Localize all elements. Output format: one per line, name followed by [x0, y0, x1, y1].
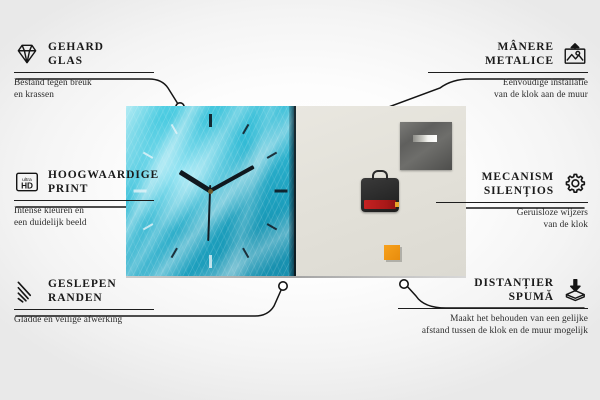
infographic-canvas: GEHARD GLAS Bestand tegen breuk en krass… [0, 0, 600, 400]
clock-hub [208, 189, 213, 194]
callout-rule [14, 309, 154, 310]
callout-description: van de klok aan de muur [428, 89, 588, 101]
foam-spacer [384, 245, 400, 260]
callout-description: Intense kleuren en [14, 205, 154, 217]
mechanism-hanger-loop [372, 170, 388, 180]
panel-seam [294, 106, 296, 276]
callout-title: MECANISM [482, 170, 554, 184]
callout-description: van de klok [436, 219, 588, 231]
diagonal-edges-icon [14, 278, 40, 304]
metal-hanger-plate [400, 122, 452, 170]
callout-description: en krassen [14, 89, 154, 101]
ultra-hd-icon: ultra HD [14, 169, 40, 195]
callout-mecanism-silentios: MECANISM SILENȚIOS Geruisloze wijzers va… [436, 170, 588, 231]
callout-title: METALICE [485, 54, 554, 68]
clock-tick [242, 124, 249, 135]
callout-title: GLAS [48, 54, 104, 68]
callout-description: Eenvoudige installatie [428, 77, 588, 89]
callout-rule [428, 72, 588, 73]
callout-title: PRINT [48, 182, 159, 196]
clock-tick [275, 190, 288, 193]
hour-hand [178, 170, 211, 193]
callout-title: DISTANȚIER [474, 276, 554, 290]
spacer-press-icon [562, 277, 588, 303]
callout-rule [398, 308, 588, 309]
product-photo [126, 106, 466, 276]
callout-title: MÂNERE [485, 40, 554, 54]
clock-tick [209, 114, 212, 127]
callout-description: Maakt het behouden van een gelijke [398, 313, 588, 325]
clock-tick [267, 152, 278, 159]
gear-icon [562, 171, 588, 197]
callout-description: Gladde en veilige afwerking [14, 314, 154, 326]
clock-tick [171, 124, 178, 135]
minute-hand [209, 165, 255, 193]
callout-rule [14, 72, 154, 73]
callout-title: GEHARD [48, 40, 104, 54]
callout-title: SPUMĂ [474, 290, 554, 304]
battery [364, 200, 396, 209]
callout-title: GESLEPEN [48, 277, 117, 291]
callout-description: Bestand tegen breuk [14, 77, 154, 89]
callout-geslepen-randen: GESLEPEN RANDEN Gladde en veilige afwerk… [14, 277, 154, 326]
svg-text:HD: HD [21, 182, 33, 191]
callout-distantier-spuma: DISTANȚIER SPUMĂ Maakt het behouden van … [398, 276, 588, 337]
clock-tick [171, 248, 178, 259]
clock-tick [242, 248, 249, 259]
connector-dot-randen [279, 282, 287, 290]
clock-tick [209, 255, 212, 268]
callout-description: afstand tussen de klok en de muur mogeli… [398, 325, 588, 337]
callout-hoogwaardige-print: ultra HD HOOGWAARDIGE PRINT Intense kleu… [14, 168, 154, 229]
callout-rule [436, 202, 588, 203]
clock-mechanism [361, 178, 399, 212]
diamond-icon [14, 41, 40, 67]
callout-manere-metalice: MÂNERE METALICE Eenvoudige installatie v… [428, 40, 588, 101]
callout-description: Geruisloze wijzers [436, 207, 588, 219]
callout-gehard-glas: GEHARD GLAS Bestand tegen breuk en krass… [14, 40, 154, 101]
callout-title: SILENȚIOS [482, 184, 554, 198]
clock-tick [267, 223, 278, 230]
picture-hanger-icon [562, 41, 588, 67]
callout-rule [14, 200, 154, 201]
hanger-slot [413, 135, 437, 142]
callout-description: een duidelijk beeld [14, 217, 154, 229]
clock-tick [143, 152, 154, 159]
callout-title: RANDEN [48, 291, 117, 305]
callout-title: HOOGWAARDIGE [48, 168, 159, 182]
